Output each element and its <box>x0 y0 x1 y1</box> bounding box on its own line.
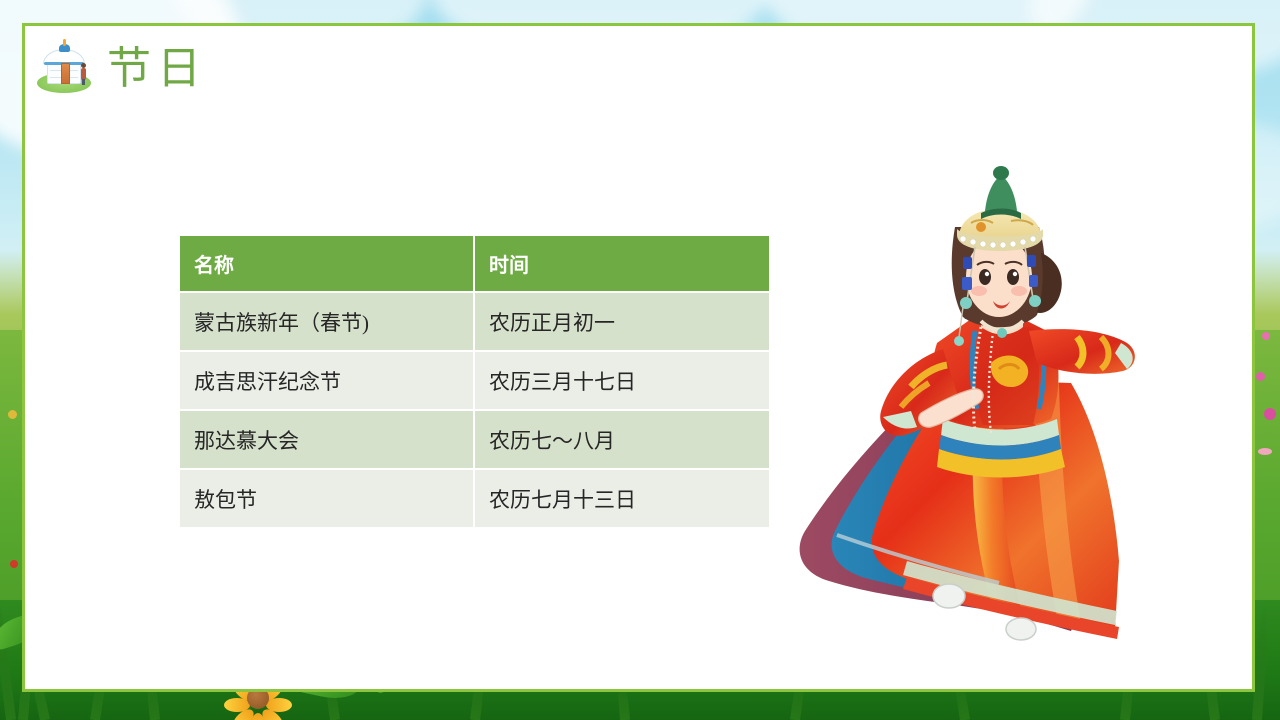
page-title: 节日 <box>107 47 207 91</box>
cell-name: 那达慕大会 <box>180 411 473 468</box>
slide-card: 节日 名称 时间 蒙古族新年（春节) 农历正月初一 成吉思汗纪念节 农历三月十七… <box>22 23 1255 692</box>
wildflower-icon <box>1262 332 1270 340</box>
wildflower-icon <box>1258 448 1272 455</box>
table-header-row: 名称 时间 <box>180 236 769 291</box>
wildflower-icon <box>8 410 17 419</box>
table-row: 那达慕大会 农历七～八月 <box>180 411 769 468</box>
cell-time: 农历七月十三日 <box>475 470 769 527</box>
table-row: 蒙古族新年（春节) 农历正月初一 <box>180 293 769 350</box>
eye <box>1007 269 1019 285</box>
cell-time: 农历七～八月 <box>475 411 769 468</box>
wildflower-icon <box>10 560 18 568</box>
mongolian-yurt-icon <box>35 42 93 96</box>
mongolian-dancer-illustration <box>785 131 1145 641</box>
table-row: 成吉思汗纪念节 农历三月十七日 <box>180 352 769 409</box>
cell-name: 敖包节 <box>180 470 473 527</box>
wildflower-icon <box>1256 372 1265 381</box>
cell-time: 农历三月十七日 <box>475 352 769 409</box>
eye <box>979 269 991 285</box>
shoe <box>933 584 965 608</box>
wildflower-icon <box>1264 408 1276 420</box>
column-header-time: 时间 <box>475 236 769 291</box>
column-header-name: 名称 <box>180 236 473 291</box>
slide-header: 节日 <box>35 42 207 96</box>
festival-table: 名称 时间 蒙古族新年（春节) 农历正月初一 成吉思汗纪念节 农历三月十七日 那… <box>178 234 771 529</box>
cell-name: 蒙古族新年（春节) <box>180 293 473 350</box>
table-row: 敖包节 农历七月十三日 <box>180 470 769 527</box>
shoe <box>1006 618 1036 640</box>
cell-name: 成吉思汗纪念节 <box>180 352 473 409</box>
cell-time: 农历正月初一 <box>475 293 769 350</box>
